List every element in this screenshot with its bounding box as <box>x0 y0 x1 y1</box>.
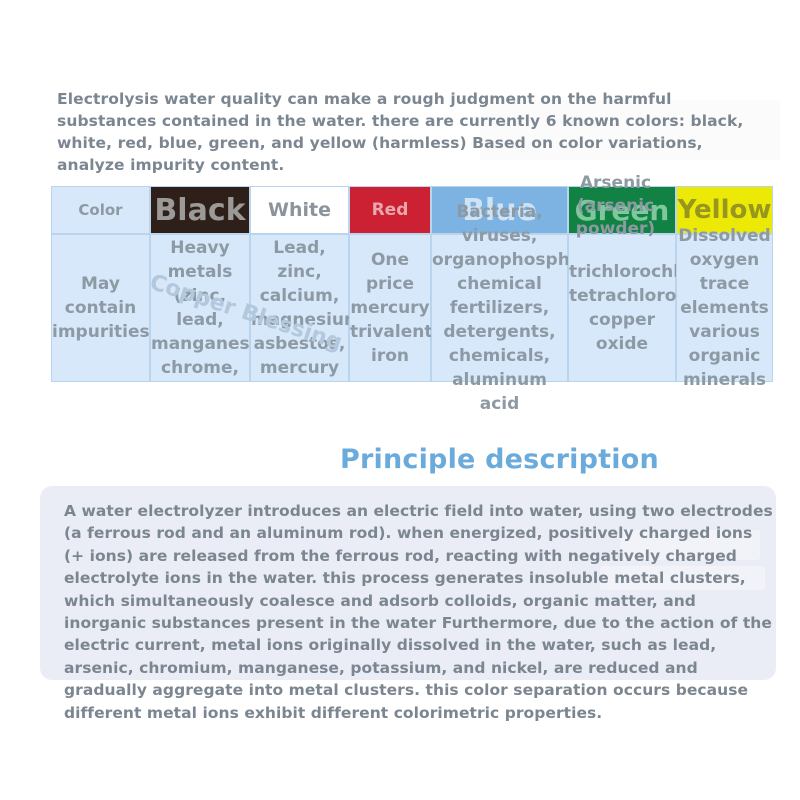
intro-paragraph: Electrolysis water quality can make a ro… <box>57 88 747 176</box>
page-root: Electrolysis water quality can make a ro… <box>0 0 800 800</box>
table-row: May contain impurities Heavy metals (zin… <box>51 234 773 382</box>
cell-color-text: May contain impurities <box>52 272 149 344</box>
cell-yellow-text: Dissolved oxygen trace elements various … <box>677 224 772 392</box>
table-body: May contain impurities Heavy metals (zin… <box>51 234 773 382</box>
cell-white-text: Lead, zinc, calcium, magnesium, asbestos… <box>251 236 348 380</box>
cell-black-description: Heavy metals (zinc, lead, manganese, chr… <box>150 234 250 382</box>
header-cell-red: Red <box>349 186 431 234</box>
cell-green-description: trichlorochlorane tetrachlorochlorine co… <box>568 234 676 382</box>
cell-red-text: One price mercury trivalent iron <box>350 248 430 368</box>
cell-yellow-description: Dissolved oxygen trace elements various … <box>676 234 773 382</box>
header-cell-green: Green <box>568 186 676 234</box>
cell-black-text: Heavy metals (zinc, lead, manganese, chr… <box>151 236 249 380</box>
cell-red-description: One price mercury trivalent iron <box>349 234 431 382</box>
principle-section-title: Principle description <box>340 444 659 475</box>
table-header-row: Color Black White Red Blue Green Yellow <box>51 186 773 234</box>
cell-color-description: May contain impurities <box>51 234 150 382</box>
table-header: Color Black White Red Blue Green Yellow <box>51 186 773 234</box>
header-cell-black: Black <box>150 186 250 234</box>
cell-blue-text: Bacteria, viruses, organophosphorus, che… <box>432 200 567 416</box>
cell-white-description: Lead, zinc, calcium, magnesium, asbestos… <box>250 234 349 382</box>
water-color-table: Color Black White Red Blue Green Yellow … <box>51 186 773 382</box>
header-cell-white: White <box>250 186 349 234</box>
water-color-table-wrapper: Color Black White Red Blue Green Yellow … <box>51 186 759 378</box>
header-cell-color: Color <box>51 186 150 234</box>
cell-green-text: trichlorochlorane tetrachlorochlorine co… <box>569 260 675 356</box>
principle-body-text: A water electrolyzer introduces an elect… <box>64 500 776 724</box>
cell-blue-description: Bacteria, viruses, organophosphorus, che… <box>431 234 568 382</box>
